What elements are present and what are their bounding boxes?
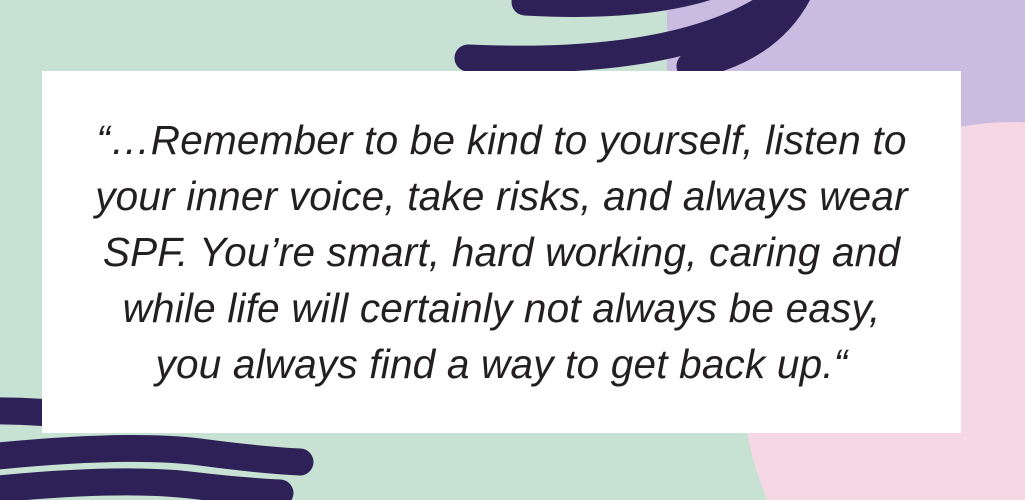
wave-upper — [0, 448, 300, 462]
quote-text: “…Remember to be kind to yourself, liste… — [42, 112, 961, 392]
wave-lower — [0, 482, 280, 493]
quote-graphic-canvas: “…Remember to be kind to yourself, liste… — [0, 0, 1025, 500]
quote-card: “…Remember to be kind to yourself, liste… — [42, 71, 961, 433]
